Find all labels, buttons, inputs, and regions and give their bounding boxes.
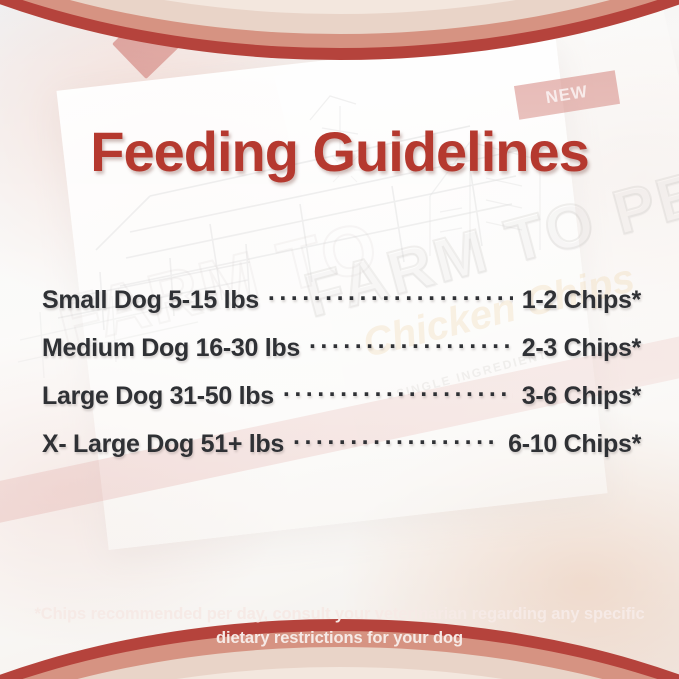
row-value: 3-6 Chips* (522, 382, 641, 411)
leader-dots (283, 379, 513, 404)
row-label: Medium Dog 16-30 lbs (42, 334, 300, 363)
table-row: Small Dog 5-15 lbs 1-2 Chips* (42, 283, 641, 331)
row-value: 1-2 Chips* (522, 286, 641, 315)
table-row: Medium Dog 16-30 lbs 2-3 Chips* (42, 331, 641, 379)
row-value: 2-3 Chips* (522, 334, 641, 363)
row-label: Small Dog 5-15 lbs (42, 286, 259, 315)
feeding-guidelines-infographic: FARM TO PET FARM TO Chicken Chips SINGLE… (0, 0, 679, 679)
row-label: X- Large Dog 51+ lbs (42, 430, 284, 459)
content-layer: Feeding Guidelines Small Dog 5-15 lbs 1-… (0, 0, 679, 679)
table-row: Large Dog 31-50 lbs 3-6 Chips* (42, 379, 641, 427)
leader-dots (268, 283, 513, 308)
row-value: 6-10 Chips* (508, 430, 641, 459)
page-title: Feeding Guidelines (0, 119, 679, 184)
leader-dots (309, 331, 513, 356)
footnote-disclaimer: *Chips recommended per day, consult your… (24, 603, 655, 651)
table-row: X- Large Dog 51+ lbs 6-10 Chips* (42, 427, 641, 475)
leader-dots (293, 427, 499, 452)
feeding-table: Small Dog 5-15 lbs 1-2 Chips* Medium Dog… (42, 283, 641, 475)
row-label: Large Dog 31-50 lbs (42, 382, 274, 411)
